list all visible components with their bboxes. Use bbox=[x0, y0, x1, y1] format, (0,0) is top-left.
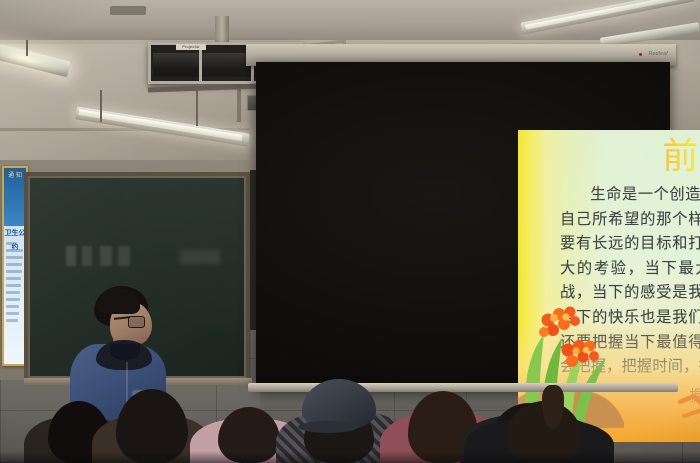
poster-body-line bbox=[6, 256, 23, 259]
projector-label: Projector bbox=[176, 44, 206, 50]
poster-body-line bbox=[6, 249, 23, 252]
ceiling bbox=[0, 0, 700, 44]
poster-body-line bbox=[6, 284, 21, 287]
cap-brim bbox=[298, 421, 358, 433]
poster-header-text: 通 知 bbox=[4, 172, 26, 180]
poster-body-line bbox=[6, 277, 21, 280]
projector-mount-stem bbox=[215, 16, 229, 42]
poster-body-line bbox=[6, 291, 20, 294]
glasses-icon bbox=[128, 316, 145, 328]
poster-body-line bbox=[6, 242, 17, 245]
poster-body-line bbox=[6, 263, 22, 266]
seated-student-3-hair bbox=[218, 407, 280, 463]
classroom-photo-scene: Projector 通 知 卫生公约 Redleaf 前 言 生命是一个创造的过… bbox=[0, 0, 700, 463]
seated-student-2-hair bbox=[116, 389, 188, 463]
ceiling-vent bbox=[110, 6, 146, 15]
poster-body-lines bbox=[6, 242, 24, 360]
chalk-writing bbox=[66, 246, 178, 266]
poster-body-line bbox=[6, 270, 22, 273]
screen-indicator-light bbox=[639, 53, 642, 56]
light-hanger bbox=[100, 90, 102, 122]
poster-title-text: 卫生公约 bbox=[4, 226, 26, 240]
standing-student-collar bbox=[110, 344, 140, 360]
screen-brand-label: Redleaf bbox=[649, 51, 668, 57]
poster-body-line bbox=[6, 298, 20, 301]
projection-screen: 前 言 生命是一个创造的过程,每个人都可以按照自己所希望的那个样子来塑造自己的。… bbox=[256, 62, 670, 388]
chalk-writing bbox=[180, 250, 220, 264]
seated-student-7 bbox=[478, 383, 608, 463]
seated-student-2 bbox=[104, 367, 200, 463]
slide-title: 前 言 bbox=[518, 135, 700, 179]
poster-body-line bbox=[6, 319, 18, 322]
poster-body-line bbox=[6, 305, 19, 308]
light-hanger bbox=[26, 40, 28, 56]
poster-body-line bbox=[6, 312, 19, 315]
light-hanger bbox=[196, 90, 198, 126]
